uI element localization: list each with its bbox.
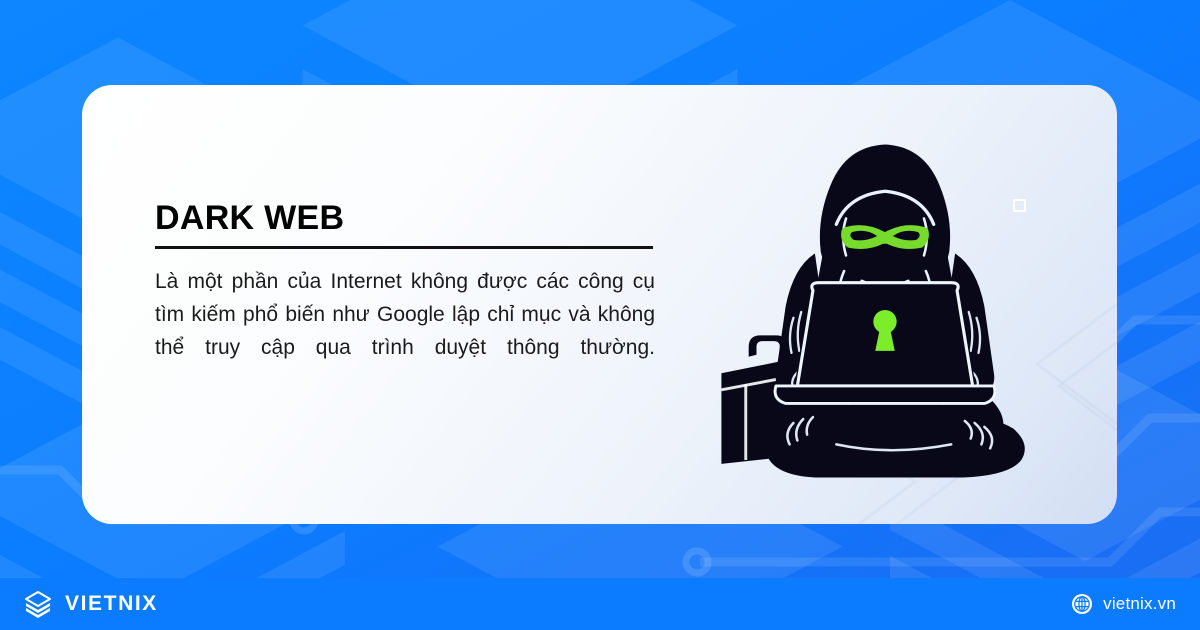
brand-name-label: VIETNIX [65, 592, 158, 616]
stacked-layers-logo-icon [22, 588, 54, 620]
site-url-label: vietnix.vn [1103, 594, 1176, 614]
body-paragraph: Là một phần của Internet không được các … [155, 265, 655, 397]
page-title: DARK WEB [155, 198, 655, 238]
globe-icon [1071, 593, 1093, 615]
text-block: DARK WEB Là một phần của Internet không … [155, 198, 655, 397]
banner-root: DARK WEB Là một phần của Internet không … [0, 0, 1200, 630]
site-url-group[interactable]: vietnix.vn [1071, 593, 1176, 615]
title-underline [155, 246, 653, 249]
footer-bar: VIETNIX vietnix.vn [0, 578, 1200, 630]
content-card: DARK WEB Là một phần của Internet không … [82, 85, 1117, 524]
brand-logo[interactable]: VIETNIX [22, 588, 158, 620]
hooded-hacker-illustration [700, 132, 1070, 488]
small-square-outline-decoration [1013, 199, 1026, 212]
laptop-icon [775, 283, 995, 404]
